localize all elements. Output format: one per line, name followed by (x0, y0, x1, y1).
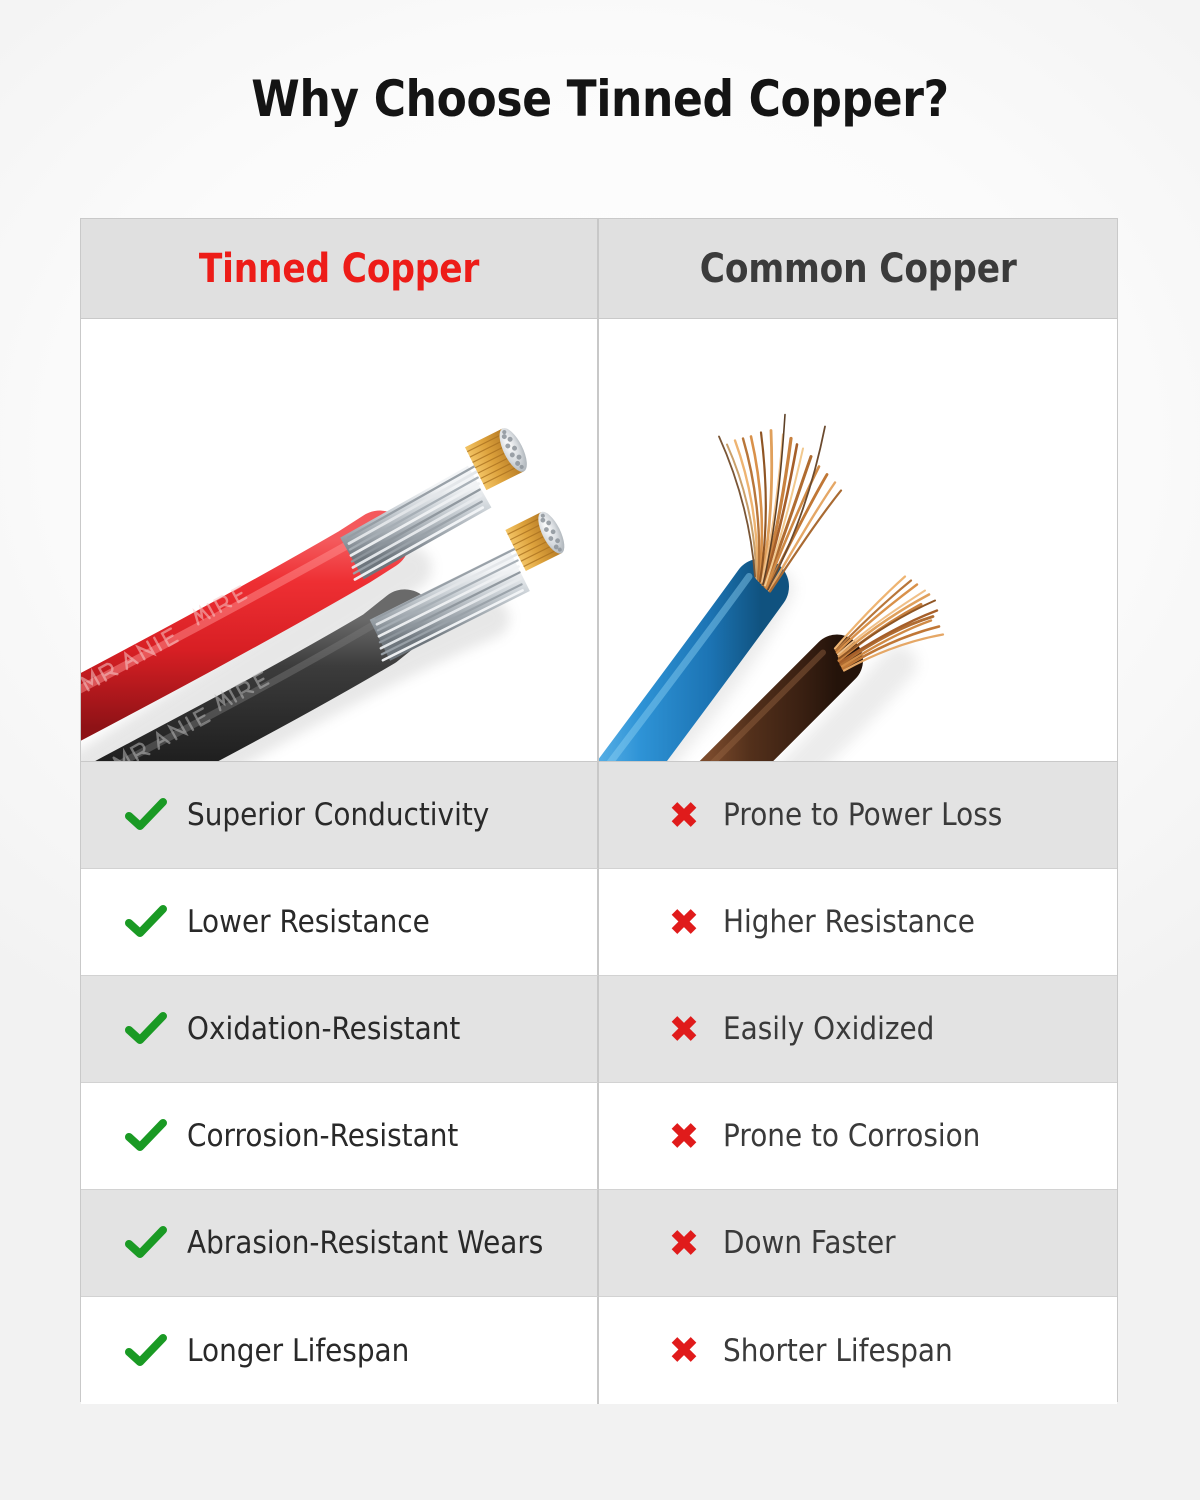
feature-row: Abrasion-Resistant Wears ✖ Down Faster (81, 1190, 1117, 1297)
table-header-row: Tinned Copper Common Copper (81, 219, 1117, 319)
feature-label-pro: Abrasion-Resistant Wears (187, 1225, 543, 1261)
feature-label-pro: Oxidation-Resistant (187, 1011, 460, 1047)
feature-row: Longer Lifespan ✖ Shorter Lifespan (81, 1297, 1117, 1404)
feature-label-pro: Corrosion-Resistant (187, 1118, 458, 1154)
x-mark-icon: ✖ (661, 1225, 707, 1262)
feature-cell-pro: Corrosion-Resistant (81, 1083, 599, 1190)
check-mark-icon (119, 905, 173, 939)
x-mark-icon: ✖ (661, 1011, 707, 1048)
header-cell-common: Common Copper (599, 219, 1117, 318)
feature-label-con: Prone to Power Loss (723, 797, 1002, 833)
check-mark-icon (119, 1226, 173, 1260)
feature-cell-pro: Longer Lifespan (81, 1297, 599, 1404)
feature-cell-pro: Superior Conductivity (81, 762, 599, 869)
feature-row: Oxidation-Resistant ✖ Easily Oxidized (81, 976, 1117, 1083)
feature-row: Corrosion-Resistant ✖ Prone to Corrosion (81, 1083, 1117, 1190)
feature-row: Lower Resistance ✖ Higher Resistance (81, 869, 1117, 976)
check-mark-icon (119, 798, 173, 832)
feature-row: Superior Conductivity ✖ Prone to Power L… (81, 762, 1117, 869)
x-mark-glyph: ✖ (668, 797, 699, 834)
infographic-page: Why Choose Tinned Copper? Tinned Copper … (0, 0, 1200, 1500)
common-copper-wire-photo (599, 319, 1117, 761)
header-cell-tinned: Tinned Copper (81, 219, 599, 318)
feature-cell-con: ✖ Shorter Lifespan (599, 1297, 1117, 1404)
feature-label-con: Shorter Lifespan (723, 1333, 953, 1369)
x-mark-icon: ✖ (661, 797, 707, 834)
feature-cell-pro: Abrasion-Resistant Wears (81, 1190, 599, 1297)
feature-label-con: Easily Oxidized (723, 1011, 934, 1047)
x-mark-glyph: ✖ (668, 1332, 699, 1369)
header-label-tinned: Tinned Copper (199, 246, 479, 292)
feature-cell-pro: Oxidation-Resistant (81, 976, 599, 1083)
x-mark-glyph: ✖ (668, 1225, 699, 1262)
feature-label-pro: Lower Resistance (187, 904, 430, 940)
feature-label-pro: Longer Lifespan (187, 1333, 409, 1369)
x-mark-glyph: ✖ (668, 1118, 699, 1155)
feature-label-con: Higher Resistance (723, 904, 975, 940)
x-mark-glyph: ✖ (668, 904, 699, 941)
feature-cell-con: ✖ Down Faster (599, 1190, 1117, 1297)
photo-cell-common (599, 319, 1117, 761)
check-mark-icon (119, 1119, 173, 1153)
check-mark-icon (119, 1012, 173, 1046)
feature-cell-pro: Lower Resistance (81, 869, 599, 976)
check-mark-icon (119, 1334, 173, 1368)
page-title: Why Choose Tinned Copper? (72, 70, 1128, 128)
x-mark-icon: ✖ (661, 904, 707, 941)
feature-cell-con: ✖ Prone to Power Loss (599, 762, 1117, 869)
feature-cell-con: ✖ Prone to Corrosion (599, 1083, 1117, 1190)
x-mark-icon: ✖ (661, 1332, 707, 1369)
tinned-copper-wire-photo (81, 319, 597, 761)
feature-label-con: Down Faster (723, 1225, 896, 1261)
x-mark-glyph: ✖ (668, 1011, 699, 1048)
feature-label-pro: Superior Conductivity (187, 797, 489, 833)
feature-cell-con: ✖ Easily Oxidized (599, 976, 1117, 1083)
photo-cell-tinned (81, 319, 599, 761)
header-label-common: Common Copper (700, 246, 1017, 292)
feature-label-con: Prone to Corrosion (723, 1118, 980, 1154)
x-mark-icon: ✖ (661, 1118, 707, 1155)
table-photo-row (81, 319, 1117, 762)
feature-cell-con: ✖ Higher Resistance (599, 869, 1117, 976)
comparison-table: Tinned Copper Common Copper (80, 218, 1118, 1402)
